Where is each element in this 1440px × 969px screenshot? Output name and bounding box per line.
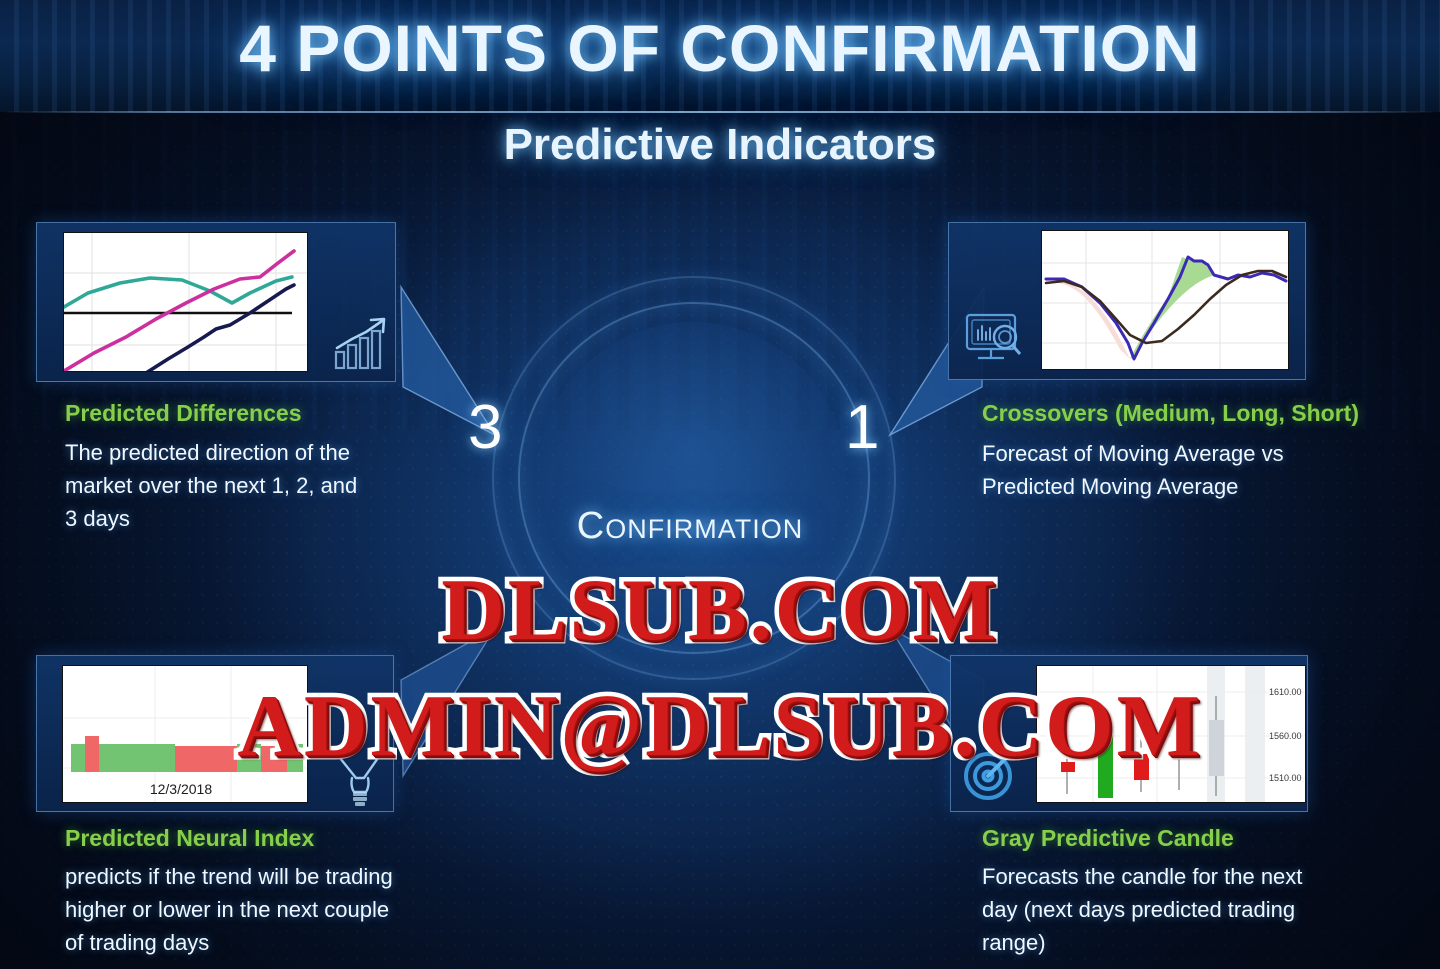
card-title-neural-index: Predicted Neural Index	[65, 825, 314, 852]
numeral-three: 3	[468, 392, 502, 463]
chart-crossovers	[1041, 230, 1289, 370]
watermark-line-1: DLSUB.COM DLSUB.COM	[0, 560, 1440, 660]
bar-chart-growth-icon	[330, 312, 392, 379]
card-body-predicted-differences: The predicted direction of the market ov…	[65, 436, 375, 535]
watermark-line-1-fill: DLSUB.COM	[0, 560, 1440, 661]
card-title-crossovers: Crossovers (Medium, Long, Short)	[982, 400, 1359, 427]
page-subtitle: Predictive Indicators	[0, 120, 1440, 170]
card-body-neural-index: predicts if the trend will be trading hi…	[65, 860, 410, 959]
card-title-predicted-differences: Predicted Differences	[65, 400, 301, 427]
card-body-crossovers: Forecast of Moving Average vs Predicted …	[982, 437, 1342, 503]
monitor-analytics-icon	[962, 310, 1028, 375]
card-body-predictive-candle: Forecasts the candle for the next day (n…	[982, 860, 1322, 959]
center-label: Confirmation	[430, 505, 950, 548]
watermark-line-2: ADMIN@DLSUB.COM ADMIN@DLSUB.COM	[0, 676, 1440, 776]
numeral-one: 1	[845, 392, 879, 463]
page-title: 4 POINTS OF CONFIRMATION	[0, 10, 1440, 86]
header-divider-rule	[0, 111, 1440, 113]
chart-predicted-differences	[63, 232, 308, 372]
slide-canvas: 4 POINTS OF CONFIRMATION Predictive Indi…	[0, 0, 1440, 969]
watermark-line-2-fill: ADMIN@DLSUB.COM	[0, 676, 1440, 777]
card-title-predictive-candle: Gray Predictive Candle	[982, 825, 1234, 852]
svg-text:12/3/2018: 12/3/2018	[150, 781, 212, 797]
